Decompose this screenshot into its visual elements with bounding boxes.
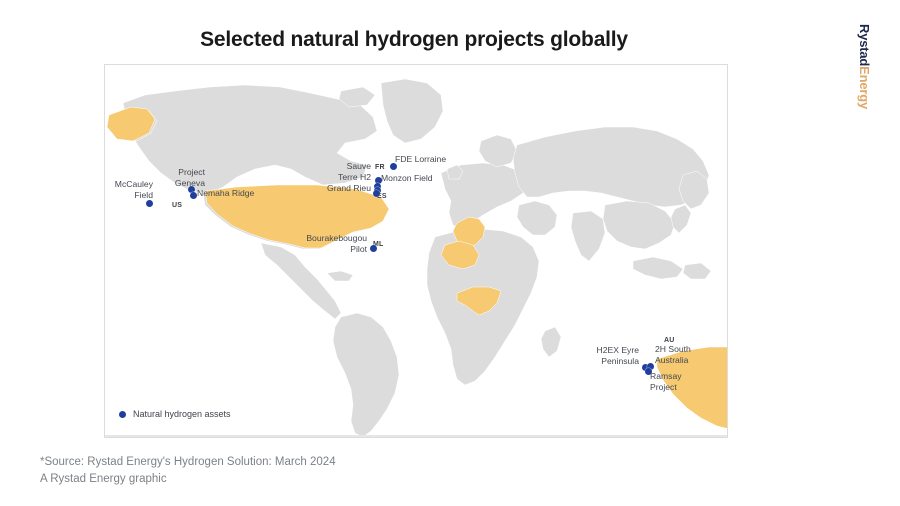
asset-dot-nemaha-ridge[interactable] <box>190 192 197 199</box>
asset-label-grand-rieu: Grand Rieu <box>311 183 371 194</box>
page-title: Selected natural hydrogen projects globa… <box>0 28 828 52</box>
footer-source-line: *Source: Rystad Energy's Hydrogen Soluti… <box>40 454 336 471</box>
legend-label: Natural hydrogen assets <box>133 409 231 419</box>
asset-label-2h-south-australia: 2H SouthAustralia <box>655 344 711 365</box>
legend-dot-icon <box>119 411 126 418</box>
asset-dot-grand-rieu[interactable] <box>373 190 380 197</box>
asset-label-ramsay-project: RamsayProject <box>650 371 700 392</box>
asset-label-project-geneva: ProjectGeneva <box>159 167 205 188</box>
asset-label-h2ex-eyre-peninsula: H2EX EyrePeninsula <box>587 345 639 366</box>
asset-label-terre-h2: Terre H2 <box>325 172 371 183</box>
asset-label-bourakebougou-pilot: BourakebougouPilot <box>287 233 367 254</box>
country-code-fr: FR <box>375 164 385 171</box>
footer-credit-line: A Rystad Energy graphic <box>40 471 336 488</box>
map-landmasses <box>105 79 728 438</box>
map-legend: Natural hydrogen assets <box>119 409 231 419</box>
asset-label-mccauley-field: McCauleyField <box>104 179 153 200</box>
country-code-us: US <box>172 202 182 209</box>
rystad-energy-logo: RystadEnergy <box>852 24 874 154</box>
asset-dot-bourakebougou-pilot[interactable] <box>370 245 377 252</box>
brand-name-secondary: Energy <box>857 66 872 109</box>
asset-label-sauve: Sauve <box>331 161 371 172</box>
country-code-au: AU <box>664 337 675 344</box>
world-map-panel: US FR ES ML AU McCauleyField ProjectGene… <box>104 64 728 438</box>
asset-label-monzon-field: Monzon Field <box>381 173 461 184</box>
asset-dot-mccauley-field[interactable] <box>146 200 153 207</box>
brand-name-primary: Rystad <box>857 24 872 66</box>
footer-source: *Source: Rystad Energy's Hydrogen Soluti… <box>40 454 336 488</box>
asset-label-fde-lorraine: FDE Lorraine <box>395 154 475 165</box>
world-map-graphic <box>105 65 728 438</box>
asset-label-nemaha-ridge: Nemaha Ridge <box>197 188 277 199</box>
